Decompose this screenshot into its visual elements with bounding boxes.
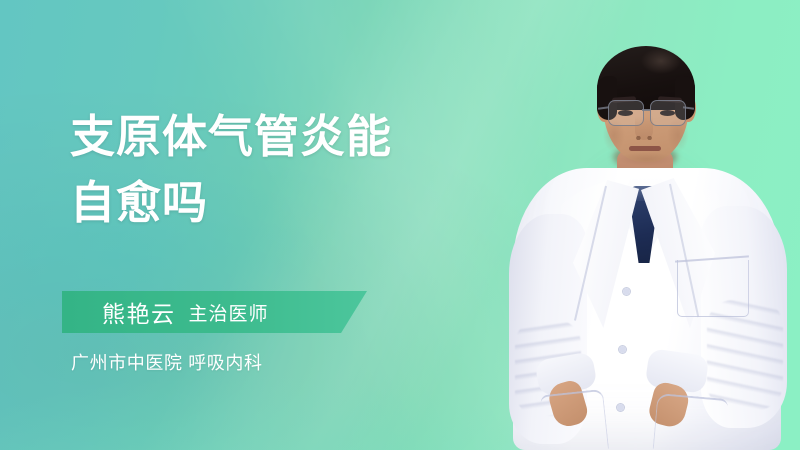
- mouth: [629, 146, 661, 151]
- eyeglass-bridge: [642, 109, 650, 111]
- doctor-name: 熊艳云: [102, 295, 176, 329]
- video-thumbnail-card: 支原体气管炎能 自愈吗 熊艳云 主治医师 广州市中医院 呼吸内科: [0, 0, 800, 450]
- badge-content: 熊艳云 主治医师: [102, 291, 269, 333]
- doctor-role: 主治医师: [189, 299, 269, 326]
- coat-button: [617, 404, 624, 411]
- chin-shading: [617, 152, 675, 166]
- eyeglass-lens-right: [650, 100, 686, 126]
- coat-button: [619, 346, 626, 353]
- page-title: 支原体气管炎能 自愈吗: [70, 104, 490, 236]
- side-pocket-left: [540, 389, 609, 450]
- hair-highlight: [641, 48, 681, 74]
- side-pocket-right: [653, 393, 729, 450]
- nostrils: [634, 136, 654, 140]
- coat-button: [623, 288, 630, 295]
- doctor-portrait: [455, 0, 800, 450]
- doctor-credential-badge: 熊艳云 主治医师: [62, 291, 367, 333]
- doctor-affiliation: 广州市中医院 呼吸内科: [71, 349, 263, 375]
- sleeve-folds-right: [707, 300, 783, 410]
